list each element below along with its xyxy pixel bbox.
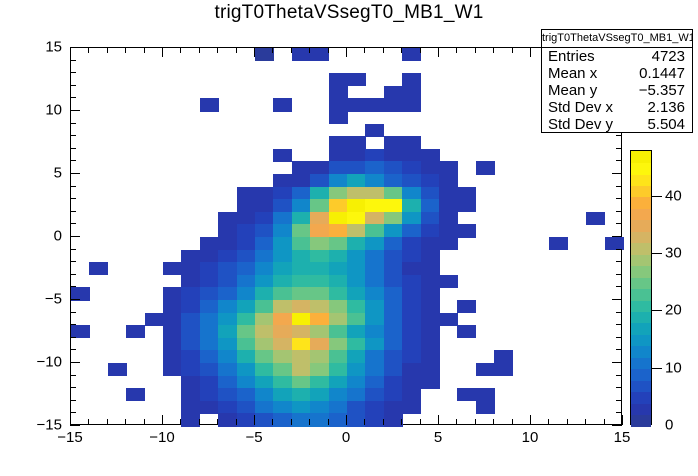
heatmap-bin	[329, 224, 348, 237]
heatmap-bin	[365, 224, 384, 237]
statistics-box-title: trigT0ThetaVSsegT0_MB1_W1	[542, 30, 692, 48]
heatmap-bin	[237, 300, 256, 313]
heatmap-bin	[255, 413, 274, 426]
heatmap-bin	[402, 161, 421, 174]
heatmap-bin	[237, 199, 256, 212]
heatmap-bin	[347, 174, 366, 187]
heatmap-bin	[310, 224, 329, 237]
heatmap-bin	[365, 275, 384, 288]
palette-segment	[631, 162, 651, 174]
heatmap-bin	[549, 237, 568, 250]
x-tick	[438, 415, 439, 425]
heatmap-bin	[292, 212, 311, 225]
heatmap-bin	[255, 48, 274, 61]
heatmap-bin	[421, 313, 440, 326]
heatmap-bin	[255, 187, 274, 200]
heatmap-bin	[329, 136, 348, 149]
x-tick-top	[180, 47, 181, 53]
heatmap-bin	[384, 262, 403, 275]
heatmap-bin	[181, 338, 200, 351]
x-tick-top	[530, 47, 531, 57]
heatmap-bin	[365, 187, 384, 200]
heatmap-bin	[439, 161, 458, 174]
palette-segment	[631, 220, 651, 232]
heatmap-bin	[237, 212, 256, 225]
z-tick-label: 10	[665, 359, 682, 376]
heatmap-bin	[347, 262, 366, 275]
y-tick-right	[616, 186, 622, 187]
heatmap-bin	[200, 98, 219, 111]
heatmap-bin	[273, 363, 292, 376]
x-tick	[475, 419, 476, 425]
y-tick	[70, 286, 76, 287]
heatmap-bin	[237, 376, 256, 389]
palette-segment	[631, 334, 651, 346]
heatmap-bin	[181, 250, 200, 263]
statistics-key: Std Dev x	[548, 99, 613, 116]
heatmap-bin	[329, 313, 348, 326]
x-tick-top	[236, 47, 237, 53]
y-tick-right	[616, 211, 622, 212]
x-tick-top	[456, 47, 457, 53]
y-tick	[70, 211, 76, 212]
statistics-key: Std Dev y	[548, 116, 613, 133]
heatmap-bin	[237, 388, 256, 401]
heatmap-bin	[384, 287, 403, 300]
heatmap-bin	[218, 388, 237, 401]
heatmap-bin	[218, 401, 237, 414]
y-tick	[70, 110, 80, 111]
heatmap-bin	[310, 300, 329, 313]
heatmap-bin	[347, 212, 366, 225]
statistics-value: 5.504	[647, 116, 685, 133]
heatmap-bin	[218, 413, 237, 426]
y-tick-right	[616, 375, 622, 376]
y-tick	[70, 274, 76, 275]
heatmap-bin	[200, 250, 219, 263]
heatmap-bin	[402, 250, 421, 263]
heatmap-bin	[181, 275, 200, 288]
x-tick-top	[309, 47, 310, 53]
heatmap-bin	[218, 212, 237, 225]
statistics-box[interactable]: trigT0ThetaVSsegT0_MB1_W1 Entries4723Mea…	[541, 29, 693, 133]
heatmap-bin	[237, 338, 256, 351]
x-tick	[383, 419, 384, 425]
heatmap-bin	[181, 363, 200, 376]
heatmap-bin	[273, 237, 292, 250]
x-tick	[236, 419, 237, 425]
heatmap-bin	[273, 350, 292, 363]
statistics-value: 4723	[652, 48, 685, 65]
heatmap-bin	[402, 199, 421, 212]
heatmap-bin	[365, 250, 384, 263]
heatmap-bin	[347, 388, 366, 401]
heatmap-bin	[108, 363, 127, 376]
heatmap-bin	[421, 363, 440, 376]
y-tick-right	[612, 299, 622, 300]
heatmap-bin	[273, 388, 292, 401]
heatmap-bin	[329, 250, 348, 263]
heatmap-bin	[365, 149, 384, 162]
y-tick	[70, 135, 76, 136]
palette-segment	[631, 289, 651, 301]
heatmap-bin	[273, 98, 292, 111]
y-tick-right	[616, 148, 622, 149]
y-tick-right	[612, 362, 622, 363]
heatmap-bin	[181, 325, 200, 338]
heatmap-bin	[255, 300, 274, 313]
x-tick	[604, 419, 605, 425]
x-tick-top	[70, 47, 71, 57]
z-tick-label: 40	[665, 187, 682, 204]
x-tick-top	[217, 47, 218, 53]
heatmap-bin	[200, 376, 219, 389]
y-tick-label: 0	[18, 228, 62, 245]
y-tick-right	[612, 236, 622, 237]
heatmap-bin	[200, 287, 219, 300]
x-tick	[125, 419, 126, 425]
heatmap-bin	[439, 212, 458, 225]
heatmap-bin	[384, 187, 403, 200]
heatmap-bin	[181, 376, 200, 389]
heatmap-bin	[421, 187, 440, 200]
plot-frame[interactable]	[70, 47, 622, 425]
heatmap-bin	[181, 388, 200, 401]
heatmap-bin	[237, 413, 256, 426]
z-tick	[652, 253, 662, 254]
heatmap-bin	[402, 376, 421, 389]
heatmap-bin	[310, 262, 329, 275]
x-tick-top	[144, 47, 145, 53]
y-tick	[70, 198, 76, 199]
heatmap-bin	[273, 401, 292, 414]
statistics-row: Std Dev y5.504	[542, 116, 692, 133]
heatmap-bin	[310, 174, 329, 187]
heatmap-bins	[71, 48, 621, 424]
heatmap-bin	[384, 388, 403, 401]
heatmap-bin	[329, 388, 348, 401]
x-tick	[420, 419, 421, 425]
y-tick	[70, 97, 76, 98]
heatmap-bin	[218, 376, 237, 389]
heatmap-bin	[402, 73, 421, 86]
y-tick-label: −5	[18, 291, 62, 308]
heatmap-bin	[273, 149, 292, 162]
heatmap-bin	[292, 237, 311, 250]
heatmap-bin	[200, 313, 219, 326]
heatmap-bin	[163, 350, 182, 363]
palette-segment	[631, 254, 651, 266]
heatmap-bin	[126, 325, 145, 338]
heatmap-bin	[329, 212, 348, 225]
heatmap-bin	[365, 174, 384, 187]
heatmap-bin	[292, 325, 311, 338]
heatmap-bin	[421, 161, 440, 174]
heatmap-bin	[126, 388, 145, 401]
statistics-key: Entries	[548, 48, 595, 65]
x-tick	[180, 419, 181, 425]
heatmap-bin	[402, 187, 421, 200]
heatmap-bin	[457, 300, 476, 313]
y-tick	[70, 375, 76, 376]
heatmap-bin	[163, 313, 182, 326]
heatmap-bin	[384, 313, 403, 326]
y-tick-right	[616, 223, 622, 224]
heatmap-bin	[347, 161, 366, 174]
heatmap-bin	[292, 187, 311, 200]
heatmap-bin	[273, 262, 292, 275]
x-tick-top	[88, 47, 89, 53]
heatmap-bin	[421, 149, 440, 162]
y-tick-right	[616, 337, 622, 338]
z-tick	[652, 310, 662, 311]
heatmap-bin	[273, 376, 292, 389]
x-tick-label: 15	[614, 429, 631, 446]
heatmap-bin	[329, 174, 348, 187]
heatmap-bin	[476, 388, 495, 401]
heatmap-bin	[292, 363, 311, 376]
heatmap-bin	[181, 401, 200, 414]
heatmap-bin	[347, 325, 366, 338]
heatmap-bin	[329, 262, 348, 275]
palette-segment	[631, 300, 651, 312]
heatmap-bin	[163, 363, 182, 376]
x-tick	[530, 415, 531, 425]
heatmap-bin	[255, 376, 274, 389]
heatmap-bin	[310, 376, 329, 389]
heatmap-bin	[218, 262, 237, 275]
heatmap-bin	[384, 300, 403, 313]
heatmap-bin	[365, 313, 384, 326]
heatmap-bin	[329, 350, 348, 363]
heatmap-bin	[476, 161, 495, 174]
color-palette-bar	[630, 150, 652, 425]
y-tick-right	[616, 400, 622, 401]
heatmap-bin	[347, 136, 366, 149]
heatmap-bin	[237, 325, 256, 338]
heatmap-bin	[421, 237, 440, 250]
statistics-row: Mean x0.1447	[542, 65, 692, 82]
heatmap-bin	[384, 413, 403, 426]
heatmap-bin	[200, 325, 219, 338]
heatmap-bin	[384, 338, 403, 351]
heatmap-bin	[200, 388, 219, 401]
heatmap-bin	[384, 174, 403, 187]
heatmap-bin	[273, 187, 292, 200]
y-tick-right	[612, 425, 622, 426]
heatmap-bin	[273, 313, 292, 326]
heatmap-bin	[384, 250, 403, 263]
heatmap-bin	[218, 237, 237, 250]
y-tick	[70, 349, 76, 350]
heatmap-bin	[384, 224, 403, 237]
heatmap-bin	[384, 86, 403, 99]
heatmap-bin	[329, 73, 348, 86]
heatmap-bin	[163, 325, 182, 338]
x-tick	[162, 415, 163, 425]
heatmap-bin	[347, 98, 366, 111]
heatmap-bin	[329, 98, 348, 111]
heatmap-bin	[365, 401, 384, 414]
heatmap-bin	[218, 363, 237, 376]
heatmap-bin	[273, 174, 292, 187]
heatmap-bin	[310, 212, 329, 225]
heatmap-bin	[329, 86, 348, 99]
heatmap-bin	[365, 325, 384, 338]
heatmap-bin	[237, 350, 256, 363]
y-tick	[70, 261, 76, 262]
x-tick	[254, 415, 255, 425]
heatmap-bin	[365, 376, 384, 389]
x-tick	[291, 419, 292, 425]
x-tick-top	[438, 47, 439, 57]
heatmap-bin	[292, 174, 311, 187]
palette-segment	[631, 277, 651, 289]
z-tick-label: 0	[665, 417, 673, 434]
heatmap-bin	[163, 262, 182, 275]
x-tick-label: 10	[522, 429, 539, 446]
x-tick-top	[383, 47, 384, 53]
heatmap-bin	[402, 86, 421, 99]
heatmap-bin	[200, 363, 219, 376]
heatmap-bin	[384, 325, 403, 338]
heatmap-bin	[347, 313, 366, 326]
statistics-row: Mean y−5.357	[542, 82, 692, 99]
y-tick	[70, 337, 76, 338]
heatmap-bin	[200, 275, 219, 288]
x-tick-top	[107, 47, 108, 53]
palette-segment	[631, 185, 651, 197]
heatmap-bin	[181, 350, 200, 363]
heatmap-bin	[255, 363, 274, 376]
heatmap-bin	[476, 401, 495, 414]
heatmap-bin	[365, 363, 384, 376]
heatmap-bin	[181, 300, 200, 313]
x-tick	[88, 419, 89, 425]
heatmap-bin	[384, 401, 403, 414]
heatmap-bin	[181, 287, 200, 300]
heatmap-bin	[273, 287, 292, 300]
heatmap-bin	[310, 401, 329, 414]
y-tick	[70, 249, 76, 250]
y-tick	[70, 123, 76, 124]
heatmap-bin	[255, 237, 274, 250]
x-tick-top	[291, 47, 292, 53]
heatmap-bin	[310, 338, 329, 351]
heatmap-bin	[347, 413, 366, 426]
heatmap-bin	[402, 338, 421, 351]
y-tick	[70, 324, 76, 325]
heatmap-bin	[347, 149, 366, 162]
z-tick-label: 20	[665, 302, 682, 319]
heatmap-bin	[292, 300, 311, 313]
palette-segment	[631, 311, 651, 323]
heatmap-bin	[365, 237, 384, 250]
y-tick	[70, 72, 76, 73]
heatmap-bin	[421, 250, 440, 263]
heatmap-bin	[181, 262, 200, 275]
heatmap-bin	[255, 388, 274, 401]
y-tick	[70, 85, 76, 86]
x-tick-top	[125, 47, 126, 53]
y-tick	[70, 387, 76, 388]
heatmap-bin	[494, 363, 513, 376]
heatmap-bin	[384, 376, 403, 389]
heatmap-bin	[310, 48, 329, 61]
y-tick-right	[616, 286, 622, 287]
heatmap-bin	[365, 161, 384, 174]
heatmap-bin	[439, 224, 458, 237]
heatmap-bin	[439, 237, 458, 250]
heatmap-bin	[310, 388, 329, 401]
x-tick	[328, 419, 329, 425]
heatmap-bin	[292, 413, 311, 426]
y-tick-right	[616, 261, 622, 262]
heatmap-bin	[347, 73, 366, 86]
heatmap-bin	[347, 250, 366, 263]
palette-segment	[631, 346, 651, 358]
x-tick-top	[199, 47, 200, 53]
heatmap-bin	[365, 98, 384, 111]
heatmap-bin	[310, 250, 329, 263]
palette-segment	[631, 403, 651, 415]
y-tick	[70, 412, 76, 413]
heatmap-bin	[402, 212, 421, 225]
heatmap-bin	[329, 187, 348, 200]
y-tick	[70, 160, 76, 161]
x-tick-top	[475, 47, 476, 53]
heatmap-bin	[329, 325, 348, 338]
heatmap-bin	[273, 413, 292, 426]
y-tick-right	[616, 274, 622, 275]
y-tick-right	[612, 173, 622, 174]
heatmap-bin	[292, 287, 311, 300]
y-tick	[70, 186, 76, 187]
y-tick	[70, 312, 76, 313]
y-tick-right	[616, 324, 622, 325]
statistics-key: Mean y	[548, 82, 597, 99]
heatmap-bin	[439, 199, 458, 212]
heatmap-bin	[329, 199, 348, 212]
x-tick-top	[401, 47, 402, 53]
statistics-row: Entries4723	[542, 48, 692, 65]
z-tick-label: 30	[665, 245, 682, 262]
x-tick	[364, 419, 365, 425]
y-tick-label: −10	[18, 354, 62, 371]
heatmap-bin	[365, 287, 384, 300]
palette-segment	[631, 392, 651, 404]
heatmap-bin	[218, 313, 237, 326]
heatmap-bin	[439, 313, 458, 326]
y-tick-right	[616, 312, 622, 313]
heatmap-bin	[163, 300, 182, 313]
heatmap-bin	[218, 287, 237, 300]
y-tick-right	[616, 198, 622, 199]
heatmap-bin	[365, 338, 384, 351]
heatmap-bin	[347, 350, 366, 363]
heatmap-bin	[384, 136, 403, 149]
heatmap-bin	[365, 300, 384, 313]
heatmap-bin	[181, 313, 200, 326]
y-tick-right	[616, 412, 622, 413]
heatmap-bin	[310, 363, 329, 376]
palette-segment	[631, 415, 651, 427]
heatmap-bin	[365, 262, 384, 275]
heatmap-bin	[218, 350, 237, 363]
heatmap-bin	[586, 212, 605, 225]
heatmap-bin	[402, 388, 421, 401]
heatmap-bin	[273, 275, 292, 288]
